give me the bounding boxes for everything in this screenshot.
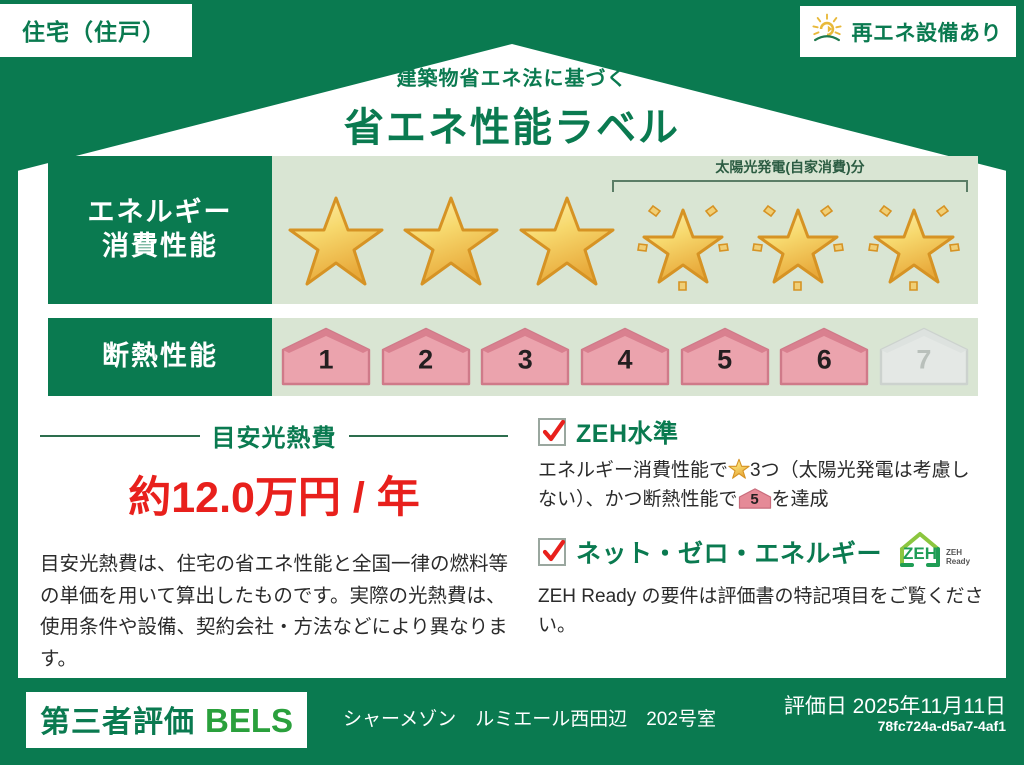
energy-performance-row: エネルギー 消費性能 太陽光発電(自家消費)分 [48, 156, 978, 304]
bels-en-label: BELS [205, 702, 293, 740]
insulation-level-5: 5 [679, 326, 771, 388]
bels-jp-label: 第三者評価 [40, 697, 195, 741]
insulation-level-number: 2 [380, 345, 472, 376]
insulation-level-number: 5 [679, 345, 771, 376]
claim-body-part1: エネルギー消費性能で [538, 460, 728, 481]
checkbox-checked-icon[interactable] [538, 418, 566, 446]
star-rating-group [278, 186, 972, 298]
insulation-level-number: 1 [280, 345, 372, 376]
claim-zeh-standard: ZEH水準 エネルギー消費性能で3つ（太陽光発電は考慮しない）、かつ断熱性能で5… [538, 414, 988, 515]
evaluation-id: 78fc724a-d5a7-4af1 [878, 718, 1006, 734]
footer: 第三者評価 BELS シャーメゾン ルミエール西田辺 202号室 評価日 202… [0, 678, 1024, 765]
bels-certification-badge: 第三者評価 BELS [26, 692, 307, 748]
insulation-level-number: 7 [878, 345, 970, 376]
zeh-ready-logo: ZEH ZEH Ready [896, 529, 982, 576]
panel-content: 建築物省エネ法に基づく 省エネ性能ラベル エネルギー 消費性能 太陽光発電(自家… [18, 44, 1006, 678]
energy-performance-label: エネルギー 消費性能 [48, 156, 272, 304]
insulation-levels-panel: 1234567 [272, 318, 978, 396]
insulation-level-7: 7 [878, 326, 970, 388]
property-name: シャーメゾン ルミエール西田辺 202号室 [343, 704, 716, 731]
heading-rule-left [40, 435, 200, 437]
star-icon [399, 192, 503, 292]
insulation-level-6: 6 [778, 326, 870, 388]
inline-house-number: 5 [738, 487, 772, 510]
insulation-performance-label: 断熱性能 [48, 318, 272, 396]
utility-cost-heading: 目安光熱費 [40, 418, 508, 453]
utility-cost-heading-label: 目安光熱費 [212, 418, 337, 453]
insulation-level-2: 2 [380, 326, 472, 388]
star-icon-solar [631, 192, 735, 292]
title-subtitle: 建築物省エネ法に基づく [18, 62, 1006, 91]
checkbox-checked-icon[interactable] [538, 538, 566, 566]
insulation-performance-row: 断熱性能 1234567 [48, 318, 978, 396]
solar-bracket-label: 太陽光発電(自家消費)分 [610, 157, 970, 177]
utility-cost-section: 目安光熱費 約12.0万円 / 年 目安光熱費は、住宅の省エネ性能と全国一律の燃… [18, 406, 530, 678]
claim-title: ZEH水準 [576, 414, 679, 450]
insulation-level-number: 6 [778, 345, 870, 376]
insulation-level-icon-inline: 5 [738, 487, 772, 510]
title-main: 省エネ性能ラベル [18, 95, 1006, 153]
claim-header: ネット・ゼロ・エネルギー ZEH ZEH Ready [538, 529, 988, 576]
insulation-level-number: 4 [579, 345, 671, 376]
star-icon [284, 192, 388, 292]
insulation-level-3: 3 [479, 326, 571, 388]
svg-text:Ready: Ready [946, 557, 971, 566]
claim-header: ZEH水準 [538, 414, 988, 450]
claim-net-zero-energy: ネット・ゼロ・エネルギー ZEH ZEH Ready [538, 529, 988, 641]
claims-section: ZEH水準 エネルギー消費性能で3つ（太陽光発電は考慮しない）、かつ断熱性能で5… [530, 406, 1006, 678]
utility-cost-note: 目安光熱費は、住宅の省エネ性能と全国一律の燃料等の単価を用いて算出したものです。… [40, 549, 508, 675]
star-icon-solar [862, 192, 966, 292]
claim-body: ZEH Ready の要件は評価書の特記項目をご覧ください。 [538, 582, 988, 641]
insulation-level-group: 1234567 [280, 324, 970, 390]
evaluation-date: 評価日 2025年11月11日 [784, 690, 1006, 720]
claim-body: エネルギー消費性能で3つ（太陽光発電は考慮しない）、かつ断熱性能で5を達成 [538, 456, 988, 515]
energy-stars-panel: 太陽光発電(自家消費)分 [272, 156, 978, 304]
heading-rule-right [349, 435, 509, 437]
star-icon-inline [728, 458, 750, 480]
insulation-level-number: 3 [479, 345, 571, 376]
utility-cost-value: 約12.0万円 / 年 [40, 463, 508, 525]
svg-text:ZEH: ZEH [903, 544, 937, 563]
claim-title: ネット・ゼロ・エネルギー [576, 534, 882, 570]
star-icon [515, 192, 619, 292]
star-icon-solar [746, 192, 850, 292]
energy-label-root: 住宅（住戸） 再エネ設備あり [0, 0, 1024, 765]
lower-content: 目安光熱費 約12.0万円 / 年 目安光熱費は、住宅の省エネ性能と全国一律の燃… [18, 406, 1006, 678]
svg-text:ZEH: ZEH [946, 548, 962, 557]
insulation-level-4: 4 [579, 326, 671, 388]
claim-body-part3: を達成 [772, 489, 829, 510]
renewable-badge-label: 再エネ設備あり [852, 17, 1003, 47]
insulation-level-1: 1 [280, 326, 372, 388]
page-title: 建築物省エネ法に基づく 省エネ性能ラベル [18, 62, 1006, 153]
